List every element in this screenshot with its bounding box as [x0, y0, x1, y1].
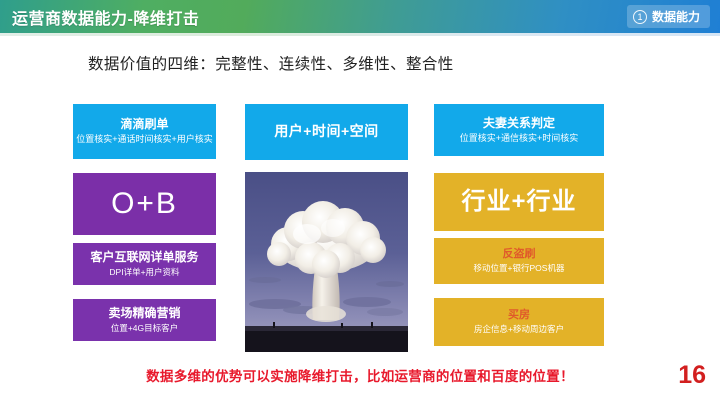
card-subtitle: 位置+4G目标客户 — [111, 323, 178, 334]
card-title: 买房 — [508, 309, 530, 323]
slide-subtitle: 数据价值的四维：完整性、连续性、多维性、整合性 — [88, 52, 454, 74]
card-marriage-relationship-detection: 夫妻关系判定 位置核实+通信核实+时间核实 — [434, 104, 604, 156]
page-header: 运营商数据能力-降维打击 1 数据能力 — [0, 0, 720, 33]
header-underline — [0, 33, 720, 36]
card-customer-internet-detail-service: 客户互联网详单服务 DPI详单+用户资料 — [73, 243, 216, 285]
card-title: 夫妻关系判定 — [483, 116, 555, 131]
page-number: 16 — [678, 361, 706, 390]
card-user-time-space: 用户+时间+空间 — [245, 104, 408, 160]
card-title: 滴滴刷单 — [120, 117, 168, 132]
card-title: 反盗刷 — [503, 248, 536, 262]
card-subtitle: 房企信息+移动周边客户 — [474, 324, 564, 335]
card-title: 卖场精确营销 — [108, 306, 180, 321]
card-home-buying: 买房 房企信息+移动周边客户 — [434, 298, 604, 346]
card-industry-plus-industry: 行业+行业 — [434, 173, 604, 231]
card-subtitle: 位置核实+通话时间核实+用户核实 — [76, 134, 213, 146]
left-column: 滴滴刷单 位置核实+通话时间核实+用户核实 O+B 客户互联网详单服务 DPI详… — [73, 104, 216, 341]
card-title: 客户互联网详单服务 — [90, 250, 198, 265]
card-mall-precision-marketing: 卖场精确营销 位置+4G目标客户 — [73, 299, 216, 341]
badge-number: 1 — [633, 10, 647, 24]
card-title: 行业+行业 — [461, 187, 576, 217]
middle-column: 用户+时间+空间 — [245, 104, 408, 352]
card-o-plus-b: O+B — [73, 173, 216, 235]
footer-note: 数据多维的优势可以实施降维打击，比如运营商的位置和百度的位置！ — [0, 365, 720, 385]
card-title: 用户+时间+空间 — [274, 123, 378, 141]
page-title: 运营商数据能力-降维打击 — [12, 5, 199, 29]
card-didi-brushing: 滴滴刷单 位置核实+通话时间核实+用户核实 — [73, 104, 216, 159]
card-subtitle: DPI详单+用户资料 — [109, 267, 179, 278]
card-subtitle: 位置核实+通信核实+时间核实 — [460, 133, 579, 145]
card-anti-card-fraud: 反盗刷 移动位置+银行POS机器 — [434, 238, 604, 284]
right-column: 夫妻关系判定 位置核实+通信核实+时间核实 行业+行业 反盗刷 移动位置+银行P… — [434, 104, 604, 346]
mushroom-cloud-photo — [245, 172, 408, 352]
card-title: O+B — [111, 189, 178, 219]
header-badge[interactable]: 1 数据能力 — [627, 5, 710, 28]
card-subtitle: 移动位置+银行POS机器 — [474, 263, 565, 274]
badge-label: 数据能力 — [652, 8, 700, 25]
mushroom-cloud-illustration — [245, 172, 408, 352]
